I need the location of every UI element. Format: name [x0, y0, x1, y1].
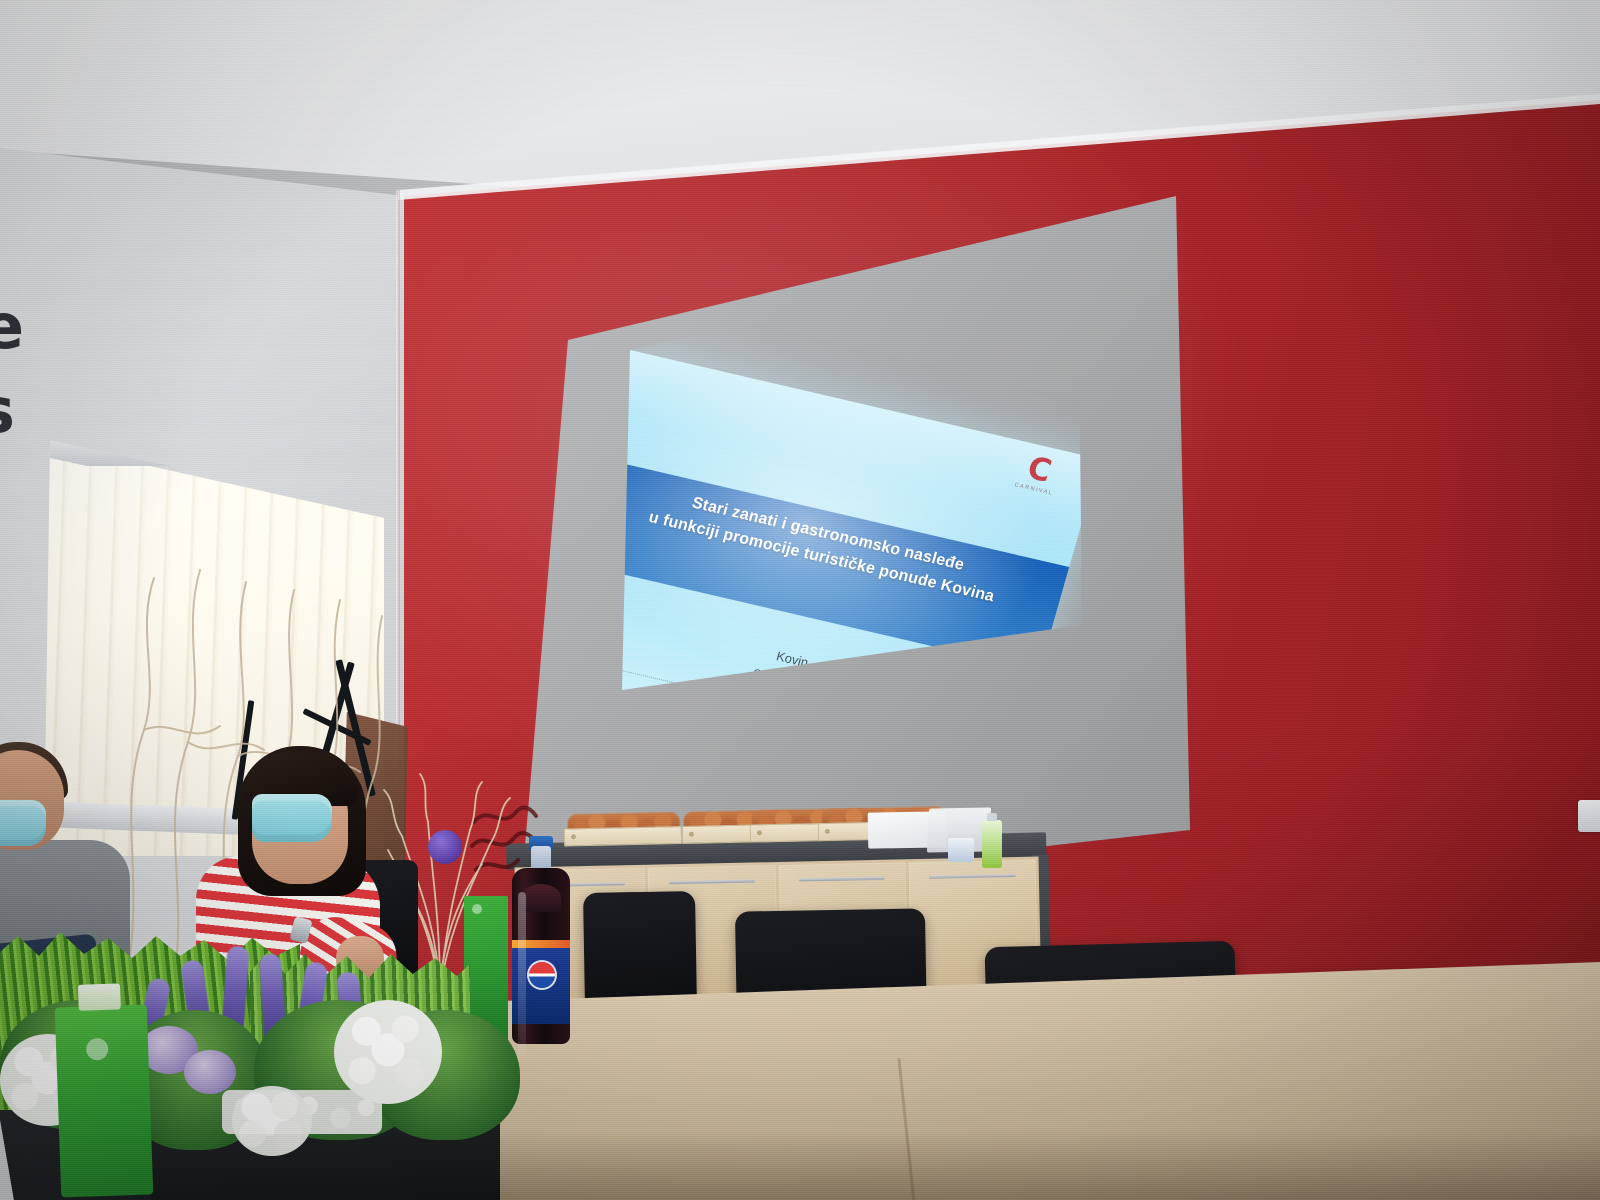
- surgical-mask-icon: [252, 794, 332, 842]
- surgical-mask-icon: [0, 800, 46, 846]
- wall-letter-2: s: [0, 380, 15, 442]
- light-switch[interactable]: [1578, 800, 1600, 832]
- table-shadow: [330, 1130, 1600, 1200]
- wall-letter-1: e: [0, 296, 24, 358]
- white-hydrangea: [232, 1086, 312, 1156]
- wall-lettering: e s: [0, 296, 52, 446]
- green-wrapped-bottle: [55, 1004, 154, 1197]
- violet-flower: [184, 1050, 236, 1094]
- bottle-highlight: [518, 892, 526, 1058]
- pepsi-bottle: [512, 846, 570, 1044]
- carnival-logo: C CARNIVAL: [1009, 451, 1067, 498]
- meeting-chair[interactable]: [583, 891, 697, 1009]
- white-hydrangea: [334, 1000, 442, 1104]
- bottle-shoulder: [521, 884, 561, 912]
- thistle-flower: [428, 830, 462, 864]
- pastry-crate: [564, 826, 682, 846]
- hand-sanitizer-bottle: [982, 820, 1002, 868]
- photo-scene: e s C CARNIVAL Stari zanati i gastronoms…: [0, 0, 1600, 1200]
- pepsi-logo-icon: [529, 962, 555, 988]
- bottle-body: [512, 868, 570, 1044]
- wipes-pack: [948, 838, 974, 862]
